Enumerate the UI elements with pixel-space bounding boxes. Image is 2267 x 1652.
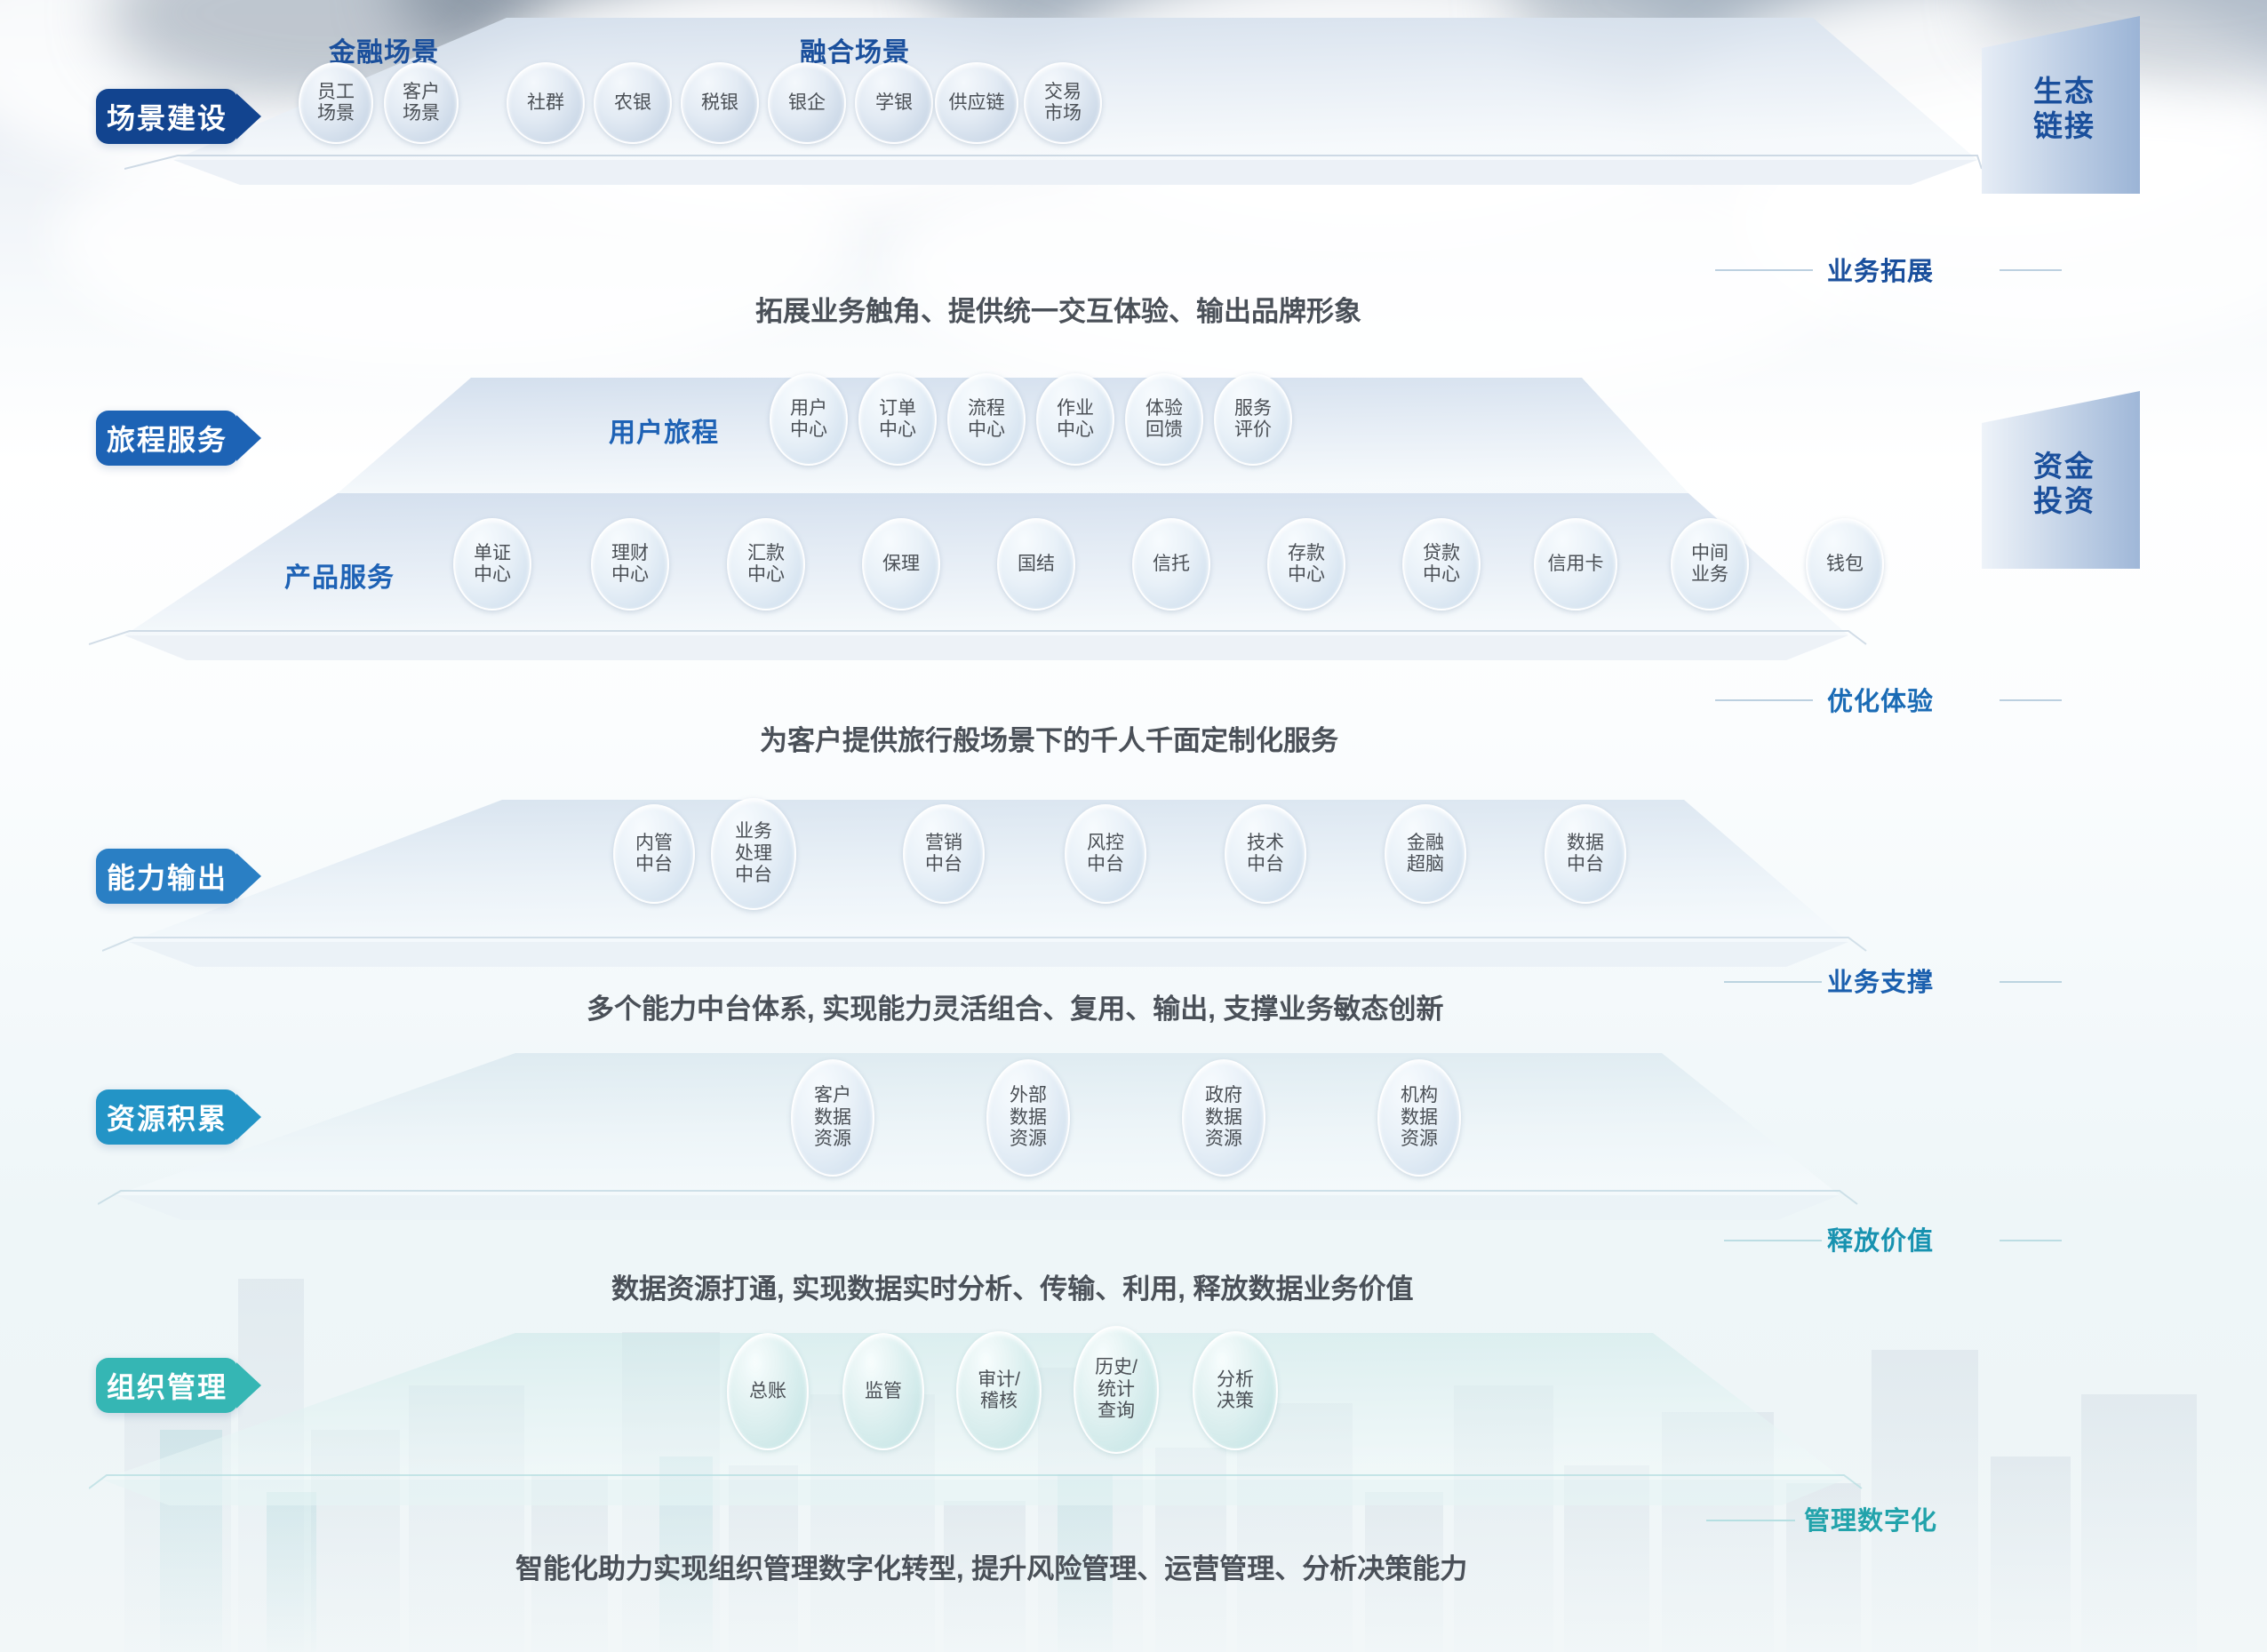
layer-tag-resource-accumulation[interactable]: 资源积累 <box>96 1089 238 1145</box>
node-bank-enterprise[interactable]: 银企 <box>768 62 846 144</box>
node-financial-brain[interactable]: 金融超脑 <box>1385 804 1466 904</box>
node-analysis-decision[interactable]: 分析决策 <box>1193 1331 1278 1450</box>
node-business-process-midend[interactable]: 业务处理中台 <box>711 798 796 910</box>
node-wealth-center[interactable]: 理财中心 <box>591 518 669 611</box>
node-marketing-midend[interactable]: 营销中台 <box>903 804 985 904</box>
value-label-business-expansion: 业务拓展 <box>1827 251 1934 288</box>
layer-1-description: 拓展业务触角、提供统一交互体验、输出品牌形象 <box>755 289 1361 329</box>
node-customer-data-resource[interactable]: 客户数据资源 <box>791 1059 874 1177</box>
node-supply-chain[interactable]: 供应链 <box>935 62 1018 144</box>
value-rule-3-right <box>2000 981 2062 983</box>
value-label-release-value: 释放价值 <box>1827 1220 1934 1257</box>
node-remittance-center[interactable]: 汇款中心 <box>727 518 805 611</box>
value-rule-5-left <box>1706 1520 1795 1521</box>
node-risk-control-midend[interactable]: 风控中台 <box>1065 804 1146 904</box>
layer-tag-label: 旅程服务 <box>107 418 227 459</box>
layer-5-description: 智能化助力实现组织管理数字化转型, 提升风险管理、运营管理、分析决策能力 <box>515 1546 1467 1586</box>
node-school-bank[interactable]: 学银 <box>855 62 933 144</box>
node-supervision[interactable]: 监管 <box>842 1333 924 1450</box>
side-banner-eco-link: 生态 链接 <box>2007 43 2122 176</box>
layer-3-description: 多个能力中台体系, 实现能力灵活组合、复用、输出, 支撑业务敏态创新 <box>587 986 1443 1026</box>
node-community[interactable]: 社群 <box>507 62 585 144</box>
layer-tag-label: 资源积累 <box>107 1097 227 1137</box>
node-user-center[interactable]: 用户中心 <box>770 373 848 466</box>
node-intermediary-business[interactable]: 中间业务 <box>1671 518 1749 611</box>
node-factoring[interactable]: 保理 <box>862 518 940 611</box>
node-audit-inspection[interactable]: 审计/稽核 <box>956 1331 1042 1450</box>
layer-tag-label: 组织管理 <box>107 1365 227 1406</box>
layer-tag-journey-service[interactable]: 旅程服务 <box>96 411 238 466</box>
node-employee-scene[interactable]: 员工场景 <box>299 62 373 144</box>
node-document-center[interactable]: 单证中心 <box>453 518 531 611</box>
value-rule-4-left <box>1724 1240 1822 1241</box>
node-trust[interactable]: 信托 <box>1132 518 1210 611</box>
value-label-business-support: 业务支撑 <box>1827 962 1934 999</box>
node-intl-settlement[interactable]: 国结 <box>997 518 1075 611</box>
layer-4-description: 数据资源打通, 实现数据实时分析、传输、利用, 释放数据业务价值 <box>611 1266 1413 1306</box>
node-order-center[interactable]: 订单中心 <box>858 373 937 466</box>
node-deposit-center[interactable]: 存款中心 <box>1267 518 1345 611</box>
node-experience-feedback[interactable]: 体验回馈 <box>1125 373 1203 466</box>
node-wallet[interactable]: 钱包 <box>1806 518 1884 611</box>
node-government-data-resource[interactable]: 政府数据资源 <box>1182 1059 1265 1177</box>
node-operation-center[interactable]: 作业中心 <box>1036 373 1114 466</box>
node-technology-midend[interactable]: 技术中台 <box>1225 804 1306 904</box>
row-label-user-journey: 用户旅程 <box>609 411 719 450</box>
layer-tag-label: 场景建设 <box>107 96 227 137</box>
architecture-diagram: 场景建设 金融场景 融合场景 员工场景 客户场景 社群 农银 税银 银企 学银 … <box>0 0 2267 1652</box>
node-institution-data-resource[interactable]: 机构数据资源 <box>1377 1059 1461 1177</box>
value-rule-2-right <box>2000 699 2062 701</box>
node-internal-mgmt-midend[interactable]: 内管中台 <box>613 804 695 904</box>
node-general-ledger[interactable]: 总账 <box>727 1333 809 1450</box>
node-agri-bank[interactable]: 农银 <box>594 62 672 144</box>
layer-3-trapezoid <box>102 800 1995 1004</box>
value-label-optimize-experience: 优化体验 <box>1827 681 1934 718</box>
node-tax-bank[interactable]: 税银 <box>681 62 759 144</box>
node-external-data-resource[interactable]: 外部数据资源 <box>986 1059 1070 1177</box>
side-banner-funds-investment: 资金 投资 <box>2007 418 2122 551</box>
node-customer-scene[interactable]: 客户场景 <box>384 62 459 144</box>
node-data-midend[interactable]: 数据中台 <box>1545 804 1626 904</box>
value-rule-1-right <box>2000 269 2062 271</box>
value-rule-1-left <box>1715 269 1813 271</box>
node-loan-center[interactable]: 贷款中心 <box>1402 518 1481 611</box>
node-history-statistics-query[interactable]: 历史/统计查询 <box>1074 1326 1159 1454</box>
value-rule-4-right <box>2000 1240 2062 1241</box>
value-rule-2-left <box>1715 699 1813 701</box>
node-credit-card[interactable]: 信用卡 <box>1534 518 1617 611</box>
layer-2-description: 为客户提供旅行般场景下的千人千面定制化服务 <box>760 718 1338 758</box>
value-label-management-digitalization: 管理数字化 <box>1804 1500 1937 1537</box>
node-service-evaluation[interactable]: 服务评价 <box>1214 373 1292 466</box>
node-trading-market[interactable]: 交易市场 <box>1024 62 1102 144</box>
value-rule-3-left <box>1724 981 1822 983</box>
layer-tag-capability-output[interactable]: 能力输出 <box>96 849 238 904</box>
layer-tag-organization-management[interactable]: 组织管理 <box>96 1358 238 1413</box>
node-process-center[interactable]: 流程中心 <box>947 373 1026 466</box>
layer-tag-scene-construction[interactable]: 场景建设 <box>96 89 238 144</box>
layer-tag-label: 能力输出 <box>107 856 227 897</box>
row-label-product-service: 产品服务 <box>284 555 395 595</box>
